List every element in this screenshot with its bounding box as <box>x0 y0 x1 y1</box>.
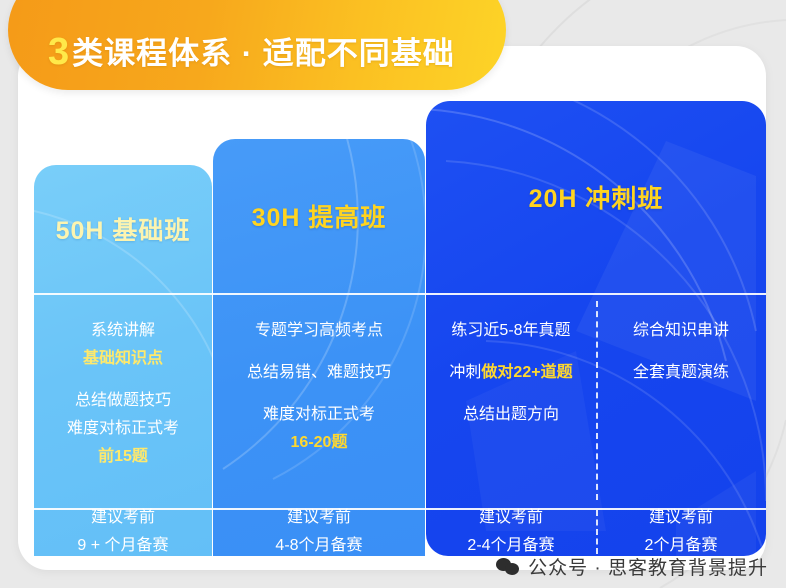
footer-line: 4-8个月备赛 <box>275 532 362 556</box>
column-body: 练习近5-8年真题 冲刺做对22+道题 总结出题方向 综合知识串讲 全套真题演练 <box>426 293 766 508</box>
body-line-mixed: 冲刺做对22+道题 <box>449 359 572 387</box>
body-line: 总结做题技巧 <box>75 387 171 415</box>
footer-line: 建议考前 <box>91 504 155 532</box>
body-line: 总结易错、难题技巧 <box>247 359 391 387</box>
footer-line: 9 + 个月备赛 <box>77 532 168 556</box>
footer-line: 建议考前 <box>649 504 713 532</box>
body-cell: 综合知识串讲 全套真题演练 <box>596 293 766 508</box>
body-line-highlight: 16-20题 <box>291 429 348 457</box>
body-line: 练习近5-8年真题 <box>451 317 570 345</box>
column-header: 20H 冲刺班 <box>426 101 766 293</box>
content-card: 50H 基础班 系统讲解 基础知识点 总结做题技巧 难度对标正式考 前15题 建… <box>18 46 766 570</box>
column-title: 20H 冲刺班 <box>529 179 664 215</box>
course-column-sprint[interactable]: 20H 冲刺班 练习近5-8年真题 冲刺做对22+道题 总结出题方向 综合知识串… <box>426 101 766 556</box>
sub-column-divider <box>596 510 598 554</box>
column-footer: 建议考前 4-8个月备赛 <box>213 508 425 556</box>
body-cell: 练习近5-8年真题 冲刺做对22+道题 总结出题方向 <box>426 293 596 508</box>
body-line: 全套真题演练 <box>633 359 729 387</box>
wechat-icon <box>496 557 520 577</box>
column-title: 30H 提高班 <box>252 198 387 234</box>
watermark-text: 公众号 · 思客教育背景提升 <box>528 553 768 580</box>
column-body: 专题学习高频考点 总结易错、难题技巧 难度对标正式考 16-20题 <box>213 293 425 508</box>
footer-line: 建议考前 <box>479 504 543 532</box>
header-banner: 3类课程体系 · 适配不同基础 <box>8 0 506 90</box>
column-title: 50H 基础班 <box>56 211 191 247</box>
column-header: 50H 基础班 <box>34 165 212 293</box>
header-banner-number: 3 <box>48 31 70 73</box>
body-line: 难度对标正式考 <box>67 415 179 443</box>
course-column-basic[interactable]: 50H 基础班 系统讲解 基础知识点 总结做题技巧 难度对标正式考 前15题 建… <box>34 165 212 556</box>
body-line-highlight: 基础知识点 <box>83 345 163 373</box>
footer-cell: 建议考前 9 + 个月备赛 <box>34 508 212 556</box>
watermark: 公众号 · 思客教育背景提升 <box>496 553 768 580</box>
course-columns: 50H 基础班 系统讲解 基础知识点 总结做题技巧 难度对标正式考 前15题 建… <box>18 46 766 570</box>
column-body: 系统讲解 基础知识点 总结做题技巧 难度对标正式考 前15题 <box>34 293 212 508</box>
body-cell: 系统讲解 基础知识点 总结做题技巧 难度对标正式考 前15题 <box>34 293 212 508</box>
footer-cell: 建议考前 2-4个月备赛 <box>426 508 596 556</box>
column-header: 30H 提高班 <box>213 139 425 293</box>
body-line: 专题学习高频考点 <box>255 317 383 345</box>
footer-cell: 建议考前 4-8个月备赛 <box>213 508 425 556</box>
header-banner-text: 3类课程体系 · 适配不同基础 <box>48 28 455 74</box>
footer-cell: 建议考前 2个月备赛 <box>596 508 766 556</box>
body-line-highlight: 前15题 <box>98 443 148 471</box>
sub-column-divider <box>596 301 598 500</box>
header-banner-label: 类课程体系 · 适配不同基础 <box>72 36 455 71</box>
course-column-advanced[interactable]: 30H 提高班 专题学习高频考点 总结易错、难题技巧 难度对标正式考 16-20… <box>213 139 425 556</box>
footer-line: 建议考前 <box>287 504 351 532</box>
body-line: 总结出题方向 <box>463 401 559 429</box>
body-line: 难度对标正式考 <box>263 401 375 429</box>
body-line: 综合知识串讲 <box>633 317 729 345</box>
body-line-prefix: 冲刺 <box>449 364 481 381</box>
body-cell: 专题学习高频考点 总结易错、难题技巧 难度对标正式考 16-20题 <box>213 293 425 508</box>
body-line-highlight: 做对22+道题 <box>481 364 572 381</box>
column-footer: 建议考前 2-4个月备赛 建议考前 2个月备赛 <box>426 508 766 556</box>
body-line: 系统讲解 <box>91 317 155 345</box>
column-footer: 建议考前 9 + 个月备赛 <box>34 508 212 556</box>
